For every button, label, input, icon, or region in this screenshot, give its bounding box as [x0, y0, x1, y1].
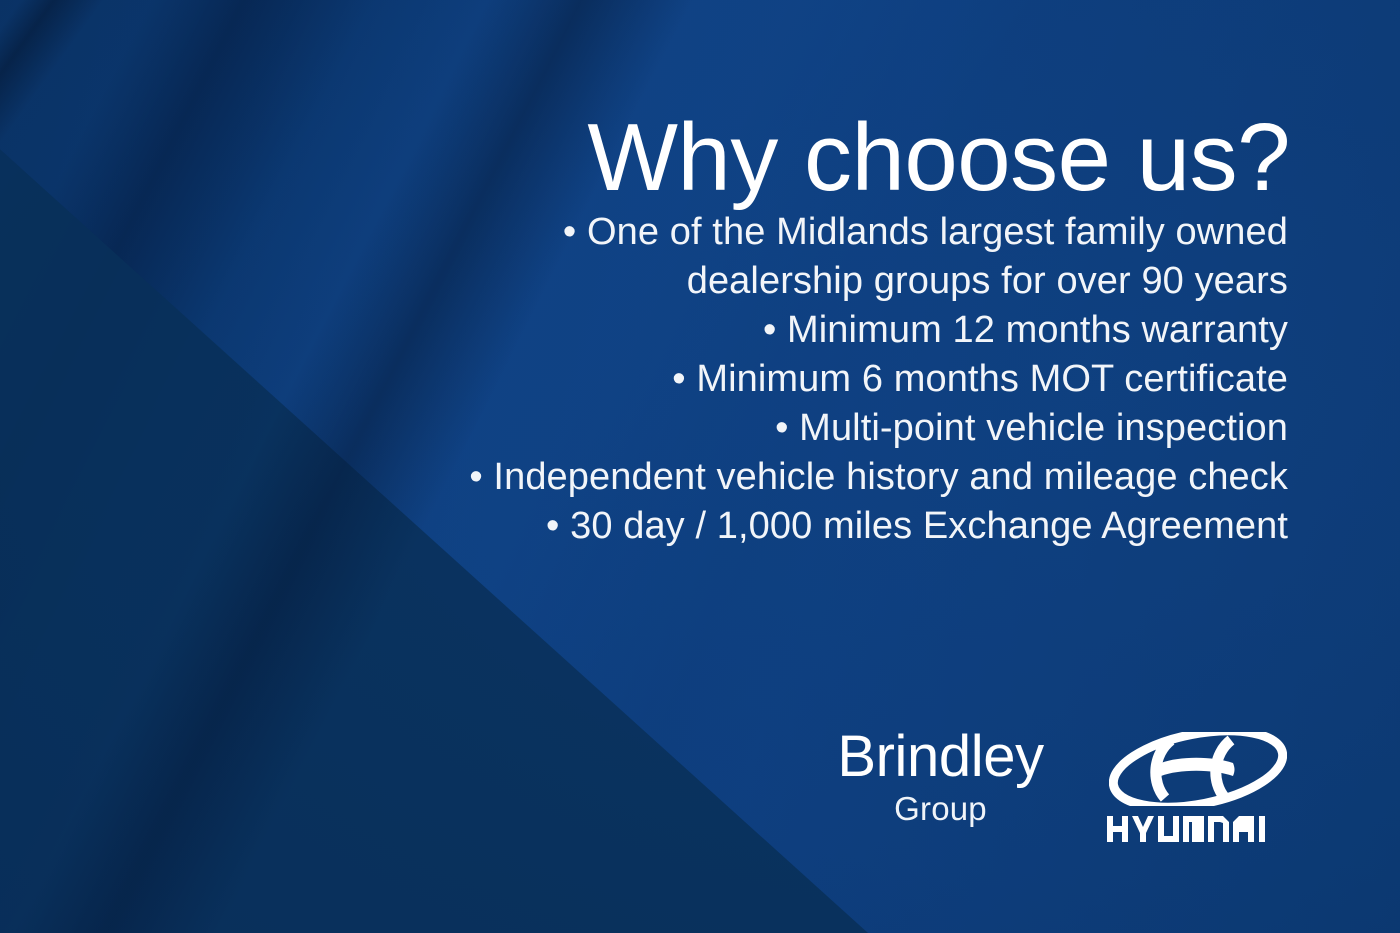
- page-title: Why choose us?: [510, 110, 1290, 206]
- brindley-group-logo: Brindley Group: [798, 726, 1083, 828]
- promo-banner: Why choose us? • One of the Midlands lar…: [0, 0, 1400, 933]
- brindley-group-subword: Group: [798, 790, 1083, 828]
- hyundai-wordmark: [1105, 812, 1291, 846]
- list-item: • Independent vehicle history and mileag…: [458, 453, 1288, 502]
- list-item: • 30 day / 1,000 miles Exchange Agreemen…: [458, 502, 1288, 551]
- list-item: • Minimum 12 months warranty: [458, 306, 1288, 355]
- banner-content: Why choose us? • One of the Midlands lar…: [0, 0, 1400, 933]
- hyundai-logo: [1098, 732, 1298, 846]
- list-item: • Multi-point vehicle inspection: [458, 404, 1288, 453]
- list-item: • One of the Midlands largest family own…: [458, 208, 1288, 306]
- benefits-list: • One of the Midlands largest family own…: [458, 208, 1288, 551]
- list-item: • Minimum 6 months MOT certificate: [458, 355, 1288, 404]
- logo-lockup: Brindley Group: [798, 726, 1308, 866]
- hyundai-h-oval-emblem: [1109, 732, 1287, 806]
- brindley-wordmark: Brindley: [798, 726, 1083, 788]
